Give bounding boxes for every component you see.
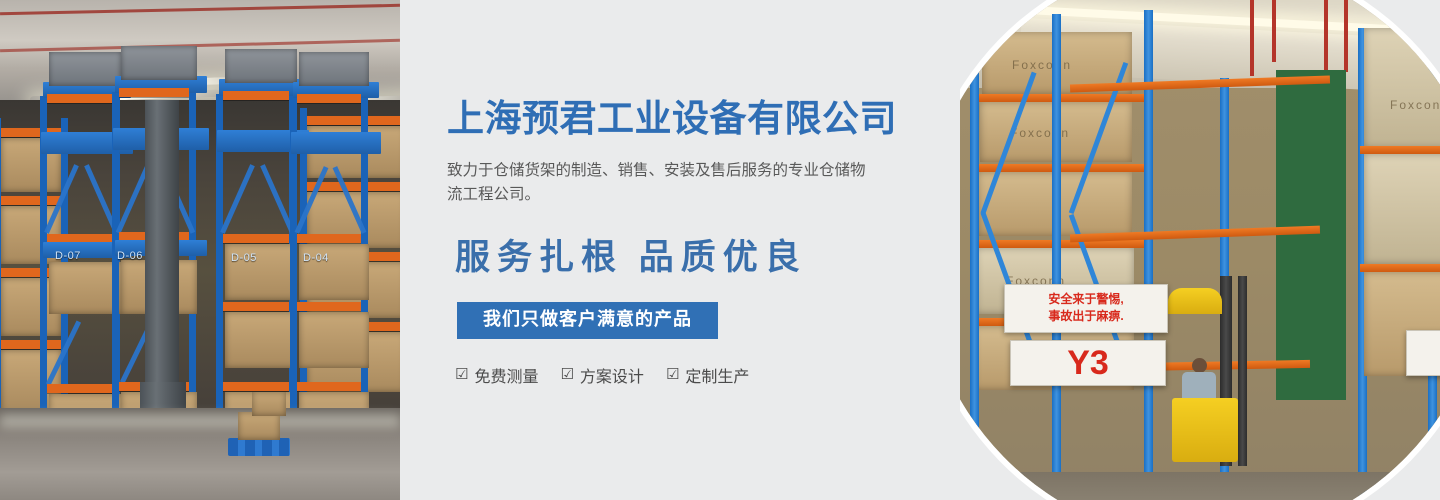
stacked-carton <box>238 412 280 440</box>
brand-slogan: 服务扎根 品质优良 <box>447 207 1007 280</box>
ceiling-pipe <box>1272 0 1276 62</box>
feature-list: ☑ 免费测量 ☑ 方案设计 ☑ 定制生产 <box>447 339 1007 387</box>
carton-brand: Foxconn <box>1010 126 1070 140</box>
safety-sign-line-2: 事故出于麻痹. <box>1013 308 1159 325</box>
blue-pallet <box>228 438 290 456</box>
check-icon: ☑ <box>666 367 679 382</box>
promise-badge-button[interactable]: 我们只做客户满意的产品 <box>457 302 718 339</box>
forklift-overhead-guard <box>1168 288 1222 314</box>
feature-label: 定制生产 <box>685 363 749 387</box>
feature-item-free-measurement: ☑ 免费测量 <box>455 363 538 387</box>
aisle-label: D-06 <box>117 250 143 262</box>
ceiling-pipe <box>1250 0 1254 76</box>
feature-label: 方案设计 <box>580 363 644 387</box>
promo-banner: D-07 D-06 <box>0 0 1440 500</box>
copy-block: 上海预君工业设备有限公司 致力于仓储货架的制造、销售、安装及售后服务的专业仓储物… <box>447 100 1007 387</box>
stacker-crane <box>145 100 179 420</box>
badge-row: 我们只做客户满意的产品 <box>447 280 1007 339</box>
left-warehouse-photo: D-07 D-06 <box>0 0 400 500</box>
rack-upright <box>970 18 979 488</box>
safety-sign-line-1: 安全来于警惕, <box>1013 291 1159 308</box>
safety-sign: 安全来于警惕, 事故出于麻痹. <box>1004 284 1168 333</box>
warehouse-floor <box>0 408 400 500</box>
aisle-label: D-05 <box>231 252 257 264</box>
right-warehouse-photo: Foxconn Foxconn Foxconn <box>960 0 1440 500</box>
feature-item-custom-production: ☑ 定制生产 <box>666 363 749 387</box>
carton-brand: Foxconn <box>1390 98 1440 112</box>
company-tagline: 致力于仓储货架的制造、销售、安装及售后服务的专业仓储物流工程公司。 <box>447 137 867 207</box>
stacked-carton <box>252 392 286 416</box>
check-icon: ☑ <box>455 367 468 382</box>
ceiling-pipe <box>1344 0 1348 72</box>
forklift-mast <box>1238 276 1247 466</box>
carton-brand: Foxconn <box>1012 58 1072 72</box>
banner-copy-panel: 上海预君工业设备有限公司 致力于仓储货架的制造、销售、安装及售后服务的专业仓储物… <box>400 0 1040 500</box>
rack-upright <box>1052 14 1061 492</box>
warehouse-floor <box>960 472 1440 500</box>
bay-sign-right: Y3 <box>1406 330 1440 376</box>
green-partition <box>1276 70 1346 400</box>
feature-label: 免费测量 <box>474 363 538 387</box>
rack-bay-d04 <box>290 96 368 422</box>
feature-item-solution-design: ☑ 方案设计 <box>560 363 643 387</box>
aisle-label: D-07 <box>55 250 81 262</box>
forklift-operator-head <box>1192 358 1207 373</box>
forklift-body <box>1172 398 1238 462</box>
check-icon: ☑ <box>560 367 573 382</box>
bay-sign: Y3 <box>1010 340 1166 386</box>
circular-photo-mask: Foxconn Foxconn Foxconn <box>960 0 1440 500</box>
aisle-label: D-04 <box>303 252 329 264</box>
company-title: 上海预君工业设备有限公司 <box>447 100 1007 137</box>
